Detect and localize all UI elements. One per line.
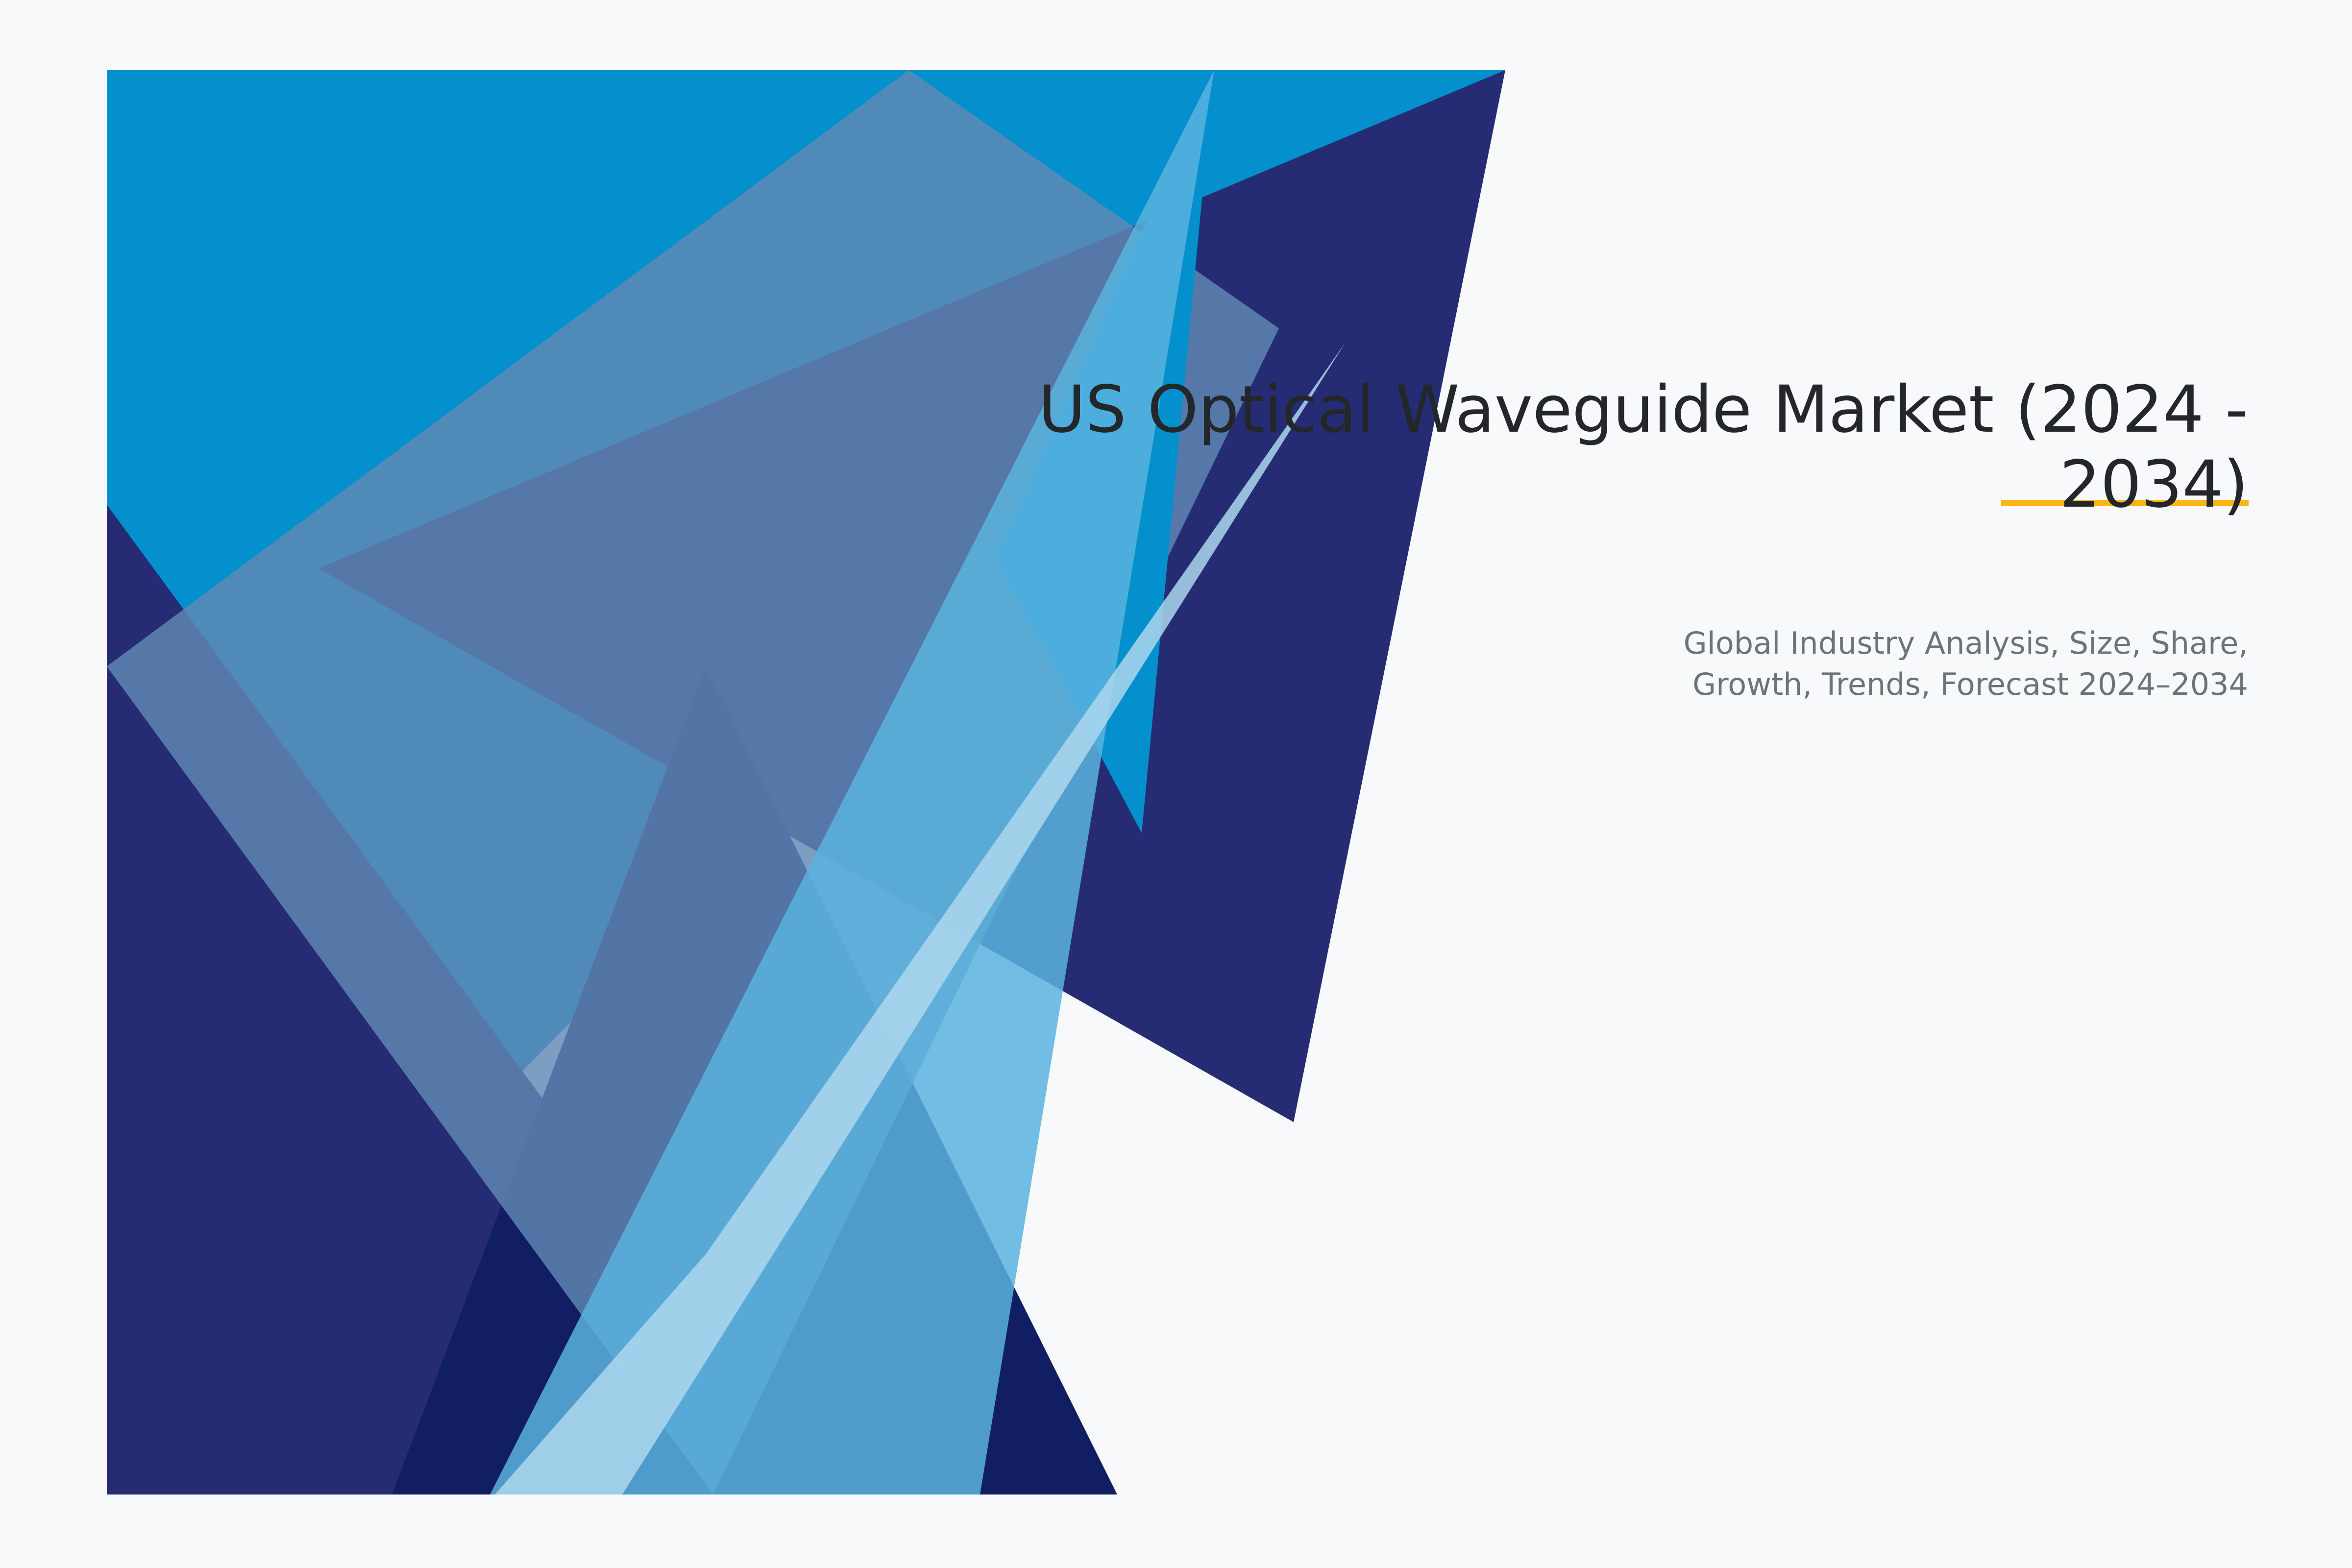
artwork-svg: [0, 0, 2352, 1568]
page-subtitle: Global Industry Analysis, Size, Share, G…: [1641, 623, 2248, 705]
report-cover-page: US Optical Waveguide Market (2024 - 2034…: [0, 0, 2352, 1568]
cover-text-block: US Optical Waveguide Market (2024 - 2034…: [974, 372, 2248, 705]
abstract-geometric-artwork: [0, 0, 2352, 1568]
